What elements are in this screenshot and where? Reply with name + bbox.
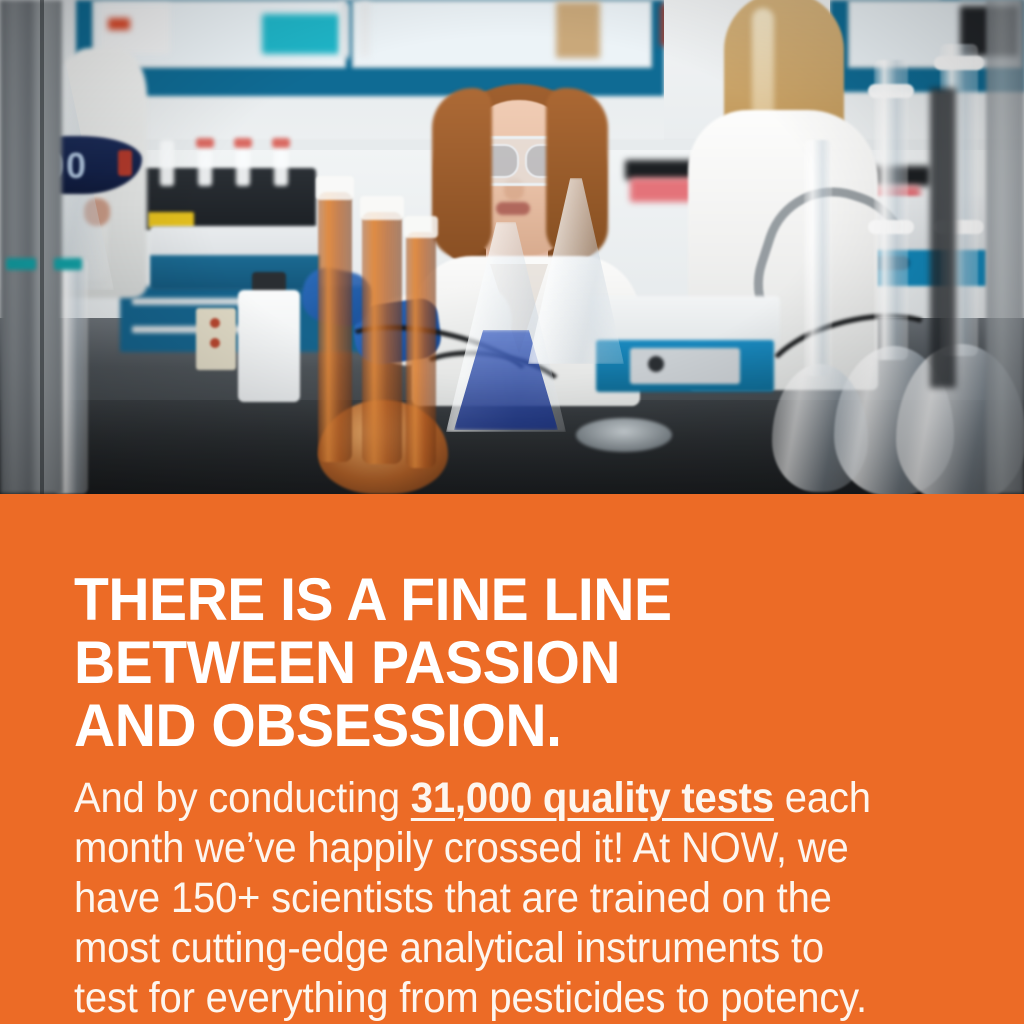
tube-cap-3 (272, 138, 290, 148)
flask-band-r1 (868, 84, 914, 98)
flask-band-r2 (934, 56, 984, 70)
scientist-center-hair-left (432, 88, 492, 258)
poster-root: 500 (0, 0, 1024, 1024)
test-tube-1 (160, 140, 174, 186)
column-stopper-2 (360, 196, 404, 220)
wash-bottle (238, 290, 300, 402)
dark-column-background (930, 88, 956, 388)
body-paragraph: And by conducting 31,000 quality tests e… (74, 773, 892, 1023)
outlet-indicator-2 (210, 338, 220, 348)
chromatography-column-2 (362, 212, 402, 464)
stat-emphasis: 31,000 quality tests (411, 774, 774, 822)
petri-dish (576, 418, 672, 452)
shaker-base (150, 226, 320, 290)
pillar-right (986, 0, 1024, 494)
cabinet-bottles-2 (360, 2, 370, 58)
column-stopper-1 (316, 176, 354, 200)
tube-cap-1 (196, 138, 214, 148)
page-title: THERE IS A FINE LINE BETWEEN PASSION AND… (74, 568, 929, 757)
hotplate-knob (648, 356, 664, 372)
hotplate-top (590, 296, 780, 344)
cabinet-glass-center (352, 0, 652, 68)
hotplate-display (630, 348, 740, 384)
lab-scene: 500 (0, 0, 1024, 494)
lab-photo: 500 (0, 0, 1024, 494)
cabinet-contents-teal (262, 14, 340, 54)
cabinet-bottles (340, 2, 350, 58)
cabinet-handle (132, 298, 252, 305)
teal-accent-1 (6, 258, 36, 270)
cabinet-box-tan (556, 2, 600, 58)
wall-outlet (196, 308, 236, 370)
doorway-pillar-left (0, 0, 62, 494)
scientist-center-mouth (496, 202, 530, 215)
flask-band-r1b (868, 220, 914, 234)
tube-cap-2 (234, 138, 252, 148)
teal-accent-2 (54, 258, 82, 270)
volumetric-flask-right-3 (790, 140, 850, 494)
flask-red-marking (118, 150, 132, 176)
pillar-seam (40, 0, 44, 494)
chromatography-column-3 (406, 232, 436, 468)
outlet-indicator-1 (210, 318, 220, 328)
chromatography-column-1 (318, 192, 352, 462)
body-text-before: And by conducting (74, 774, 411, 822)
flask-neck-r1 (874, 60, 908, 360)
column-stopper-3 (404, 216, 438, 238)
flask-neck-r3 (804, 140, 832, 376)
orange-text-panel: THERE IS A FINE LINE BETWEEN PASSION AND… (0, 494, 1024, 1024)
